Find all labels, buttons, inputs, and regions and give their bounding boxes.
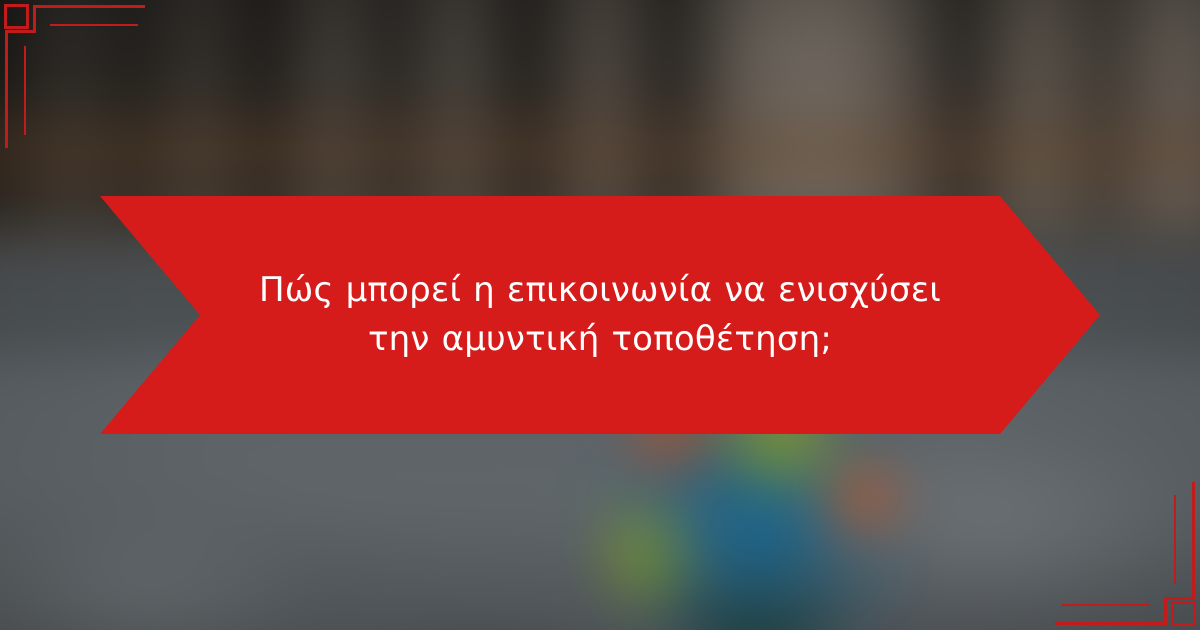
ornament-elbow-horizontal (5, 30, 36, 33)
ornament-inner-horizontal (1062, 604, 1150, 606)
ornament-elbow-vertical (1164, 597, 1167, 625)
headline-text: Πώς μπορεί η επικοινωνία να ενισχύσει τη… (230, 266, 970, 365)
ornament-inner-horizontal (50, 24, 138, 26)
ornament-outer-vertical (5, 33, 8, 148)
ornament-outer-horizontal (1055, 622, 1167, 625)
ornament-inner-vertical (1174, 495, 1176, 584)
ornament-elbow-horizontal (1164, 597, 1195, 600)
ornament-square-icon (1171, 601, 1196, 626)
corner-ornament-bottom-right (1040, 470, 1200, 630)
ornament-elbow-vertical (33, 5, 36, 33)
social-card: Πώς μπορεί η επικοινωνία να ενισχύσει τη… (0, 0, 1200, 630)
ornament-outer-vertical (1192, 482, 1195, 597)
ornament-square-icon (4, 4, 29, 29)
corner-ornament-top-left (0, 0, 160, 160)
headline-banner: Πώς μπορεί η επικοινωνία να ενισχύσει τη… (100, 196, 1100, 434)
ornament-outer-horizontal (33, 5, 145, 8)
ornament-inner-vertical (24, 46, 26, 135)
